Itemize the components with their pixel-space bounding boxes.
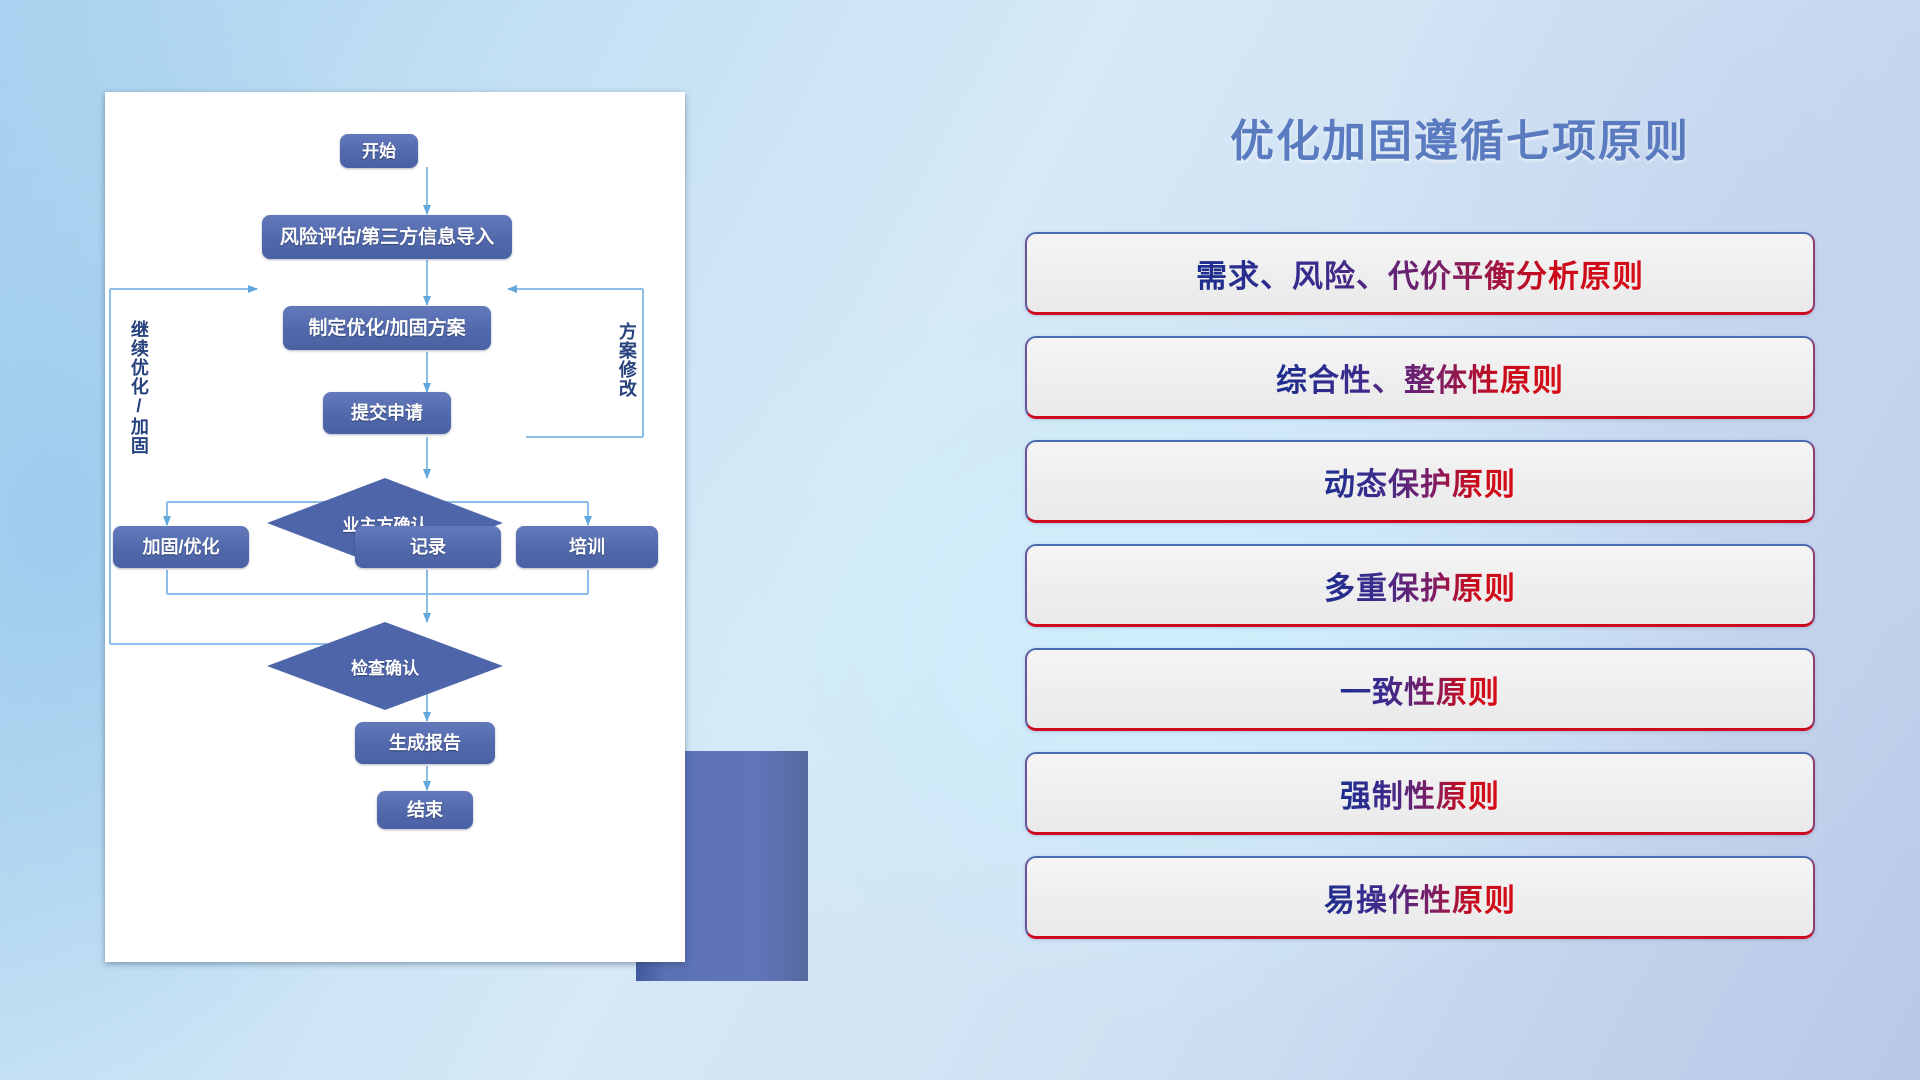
flow-node-start[interactable]: 开始 [340,134,418,168]
flow-node-reinforce-optimize[interactable]: 加固/优化 [113,526,249,568]
flow-node-label: 培训 [569,538,605,556]
flow-node-end[interactable]: 结束 [377,791,473,829]
flow-node-check-confirm[interactable]: 检查确认 [267,622,503,710]
edge-label-continue-optimize: 继续优化/加固 [129,320,148,460]
principle-card[interactable]: 多重保护原则 [1025,544,1815,627]
principle-label: 动态保护原则 [1324,459,1516,504]
principle-card[interactable]: 综合性、整体性原则 [1025,336,1815,419]
flow-node-label: 开始 [362,143,396,160]
principle-card[interactable]: 易操作性原则 [1025,856,1815,939]
principle-card[interactable]: 需求、风险、代价平衡分析原则 [1025,232,1815,315]
principles-title: 优化加固遵循七项原则 [1060,105,1860,169]
edge-label-plan-revision: 方案修改 [617,322,636,427]
flow-node-risk-assessment[interactable]: 风险评估/第三方信息导入 [262,215,512,259]
slide-canvas: 开始 风险评估/第三方信息导入 制定优化/加固方案 提交申请 业主方确认 加固/… [0,0,1920,1080]
flow-node-label: 记录 [410,538,446,556]
principle-label: 易操作性原则 [1324,875,1516,920]
principle-card[interactable]: 动态保护原则 [1025,440,1815,523]
flow-node-plan[interactable]: 制定优化/加固方案 [283,306,491,350]
principle-label: 综合性、整体性原则 [1276,355,1564,400]
principle-card[interactable]: 一致性原则 [1025,648,1815,731]
principle-label: 一致性原则 [1340,667,1500,712]
flow-node-training[interactable]: 培训 [516,526,658,568]
flow-node-label: 风险评估/第三方信息导入 [280,228,494,247]
principles-list: 需求、风险、代价平衡分析原则 综合性、整体性原则 动态保护原则 多重保护原则 一… [1025,232,1815,960]
principle-label: 强制性原则 [1340,771,1500,816]
flow-node-label: 生成报告 [389,734,461,752]
flow-node-label: 提交申请 [351,404,423,422]
principle-label: 需求、风险、代价平衡分析原则 [1196,251,1644,296]
principle-card[interactable]: 强制性原则 [1025,752,1815,835]
flowchart-panel: 开始 风险评估/第三方信息导入 制定优化/加固方案 提交申请 业主方确认 加固/… [105,92,685,962]
principle-label: 多重保护原则 [1324,563,1516,608]
flow-node-label: 结束 [407,801,443,819]
flow-node-record[interactable]: 记录 [355,526,501,568]
flow-node-submit-application[interactable]: 提交申请 [323,392,451,434]
flow-node-generate-report[interactable]: 生成报告 [355,722,495,764]
flow-node-label: 制定优化/加固方案 [308,319,465,338]
flow-node-label: 加固/优化 [142,538,219,556]
